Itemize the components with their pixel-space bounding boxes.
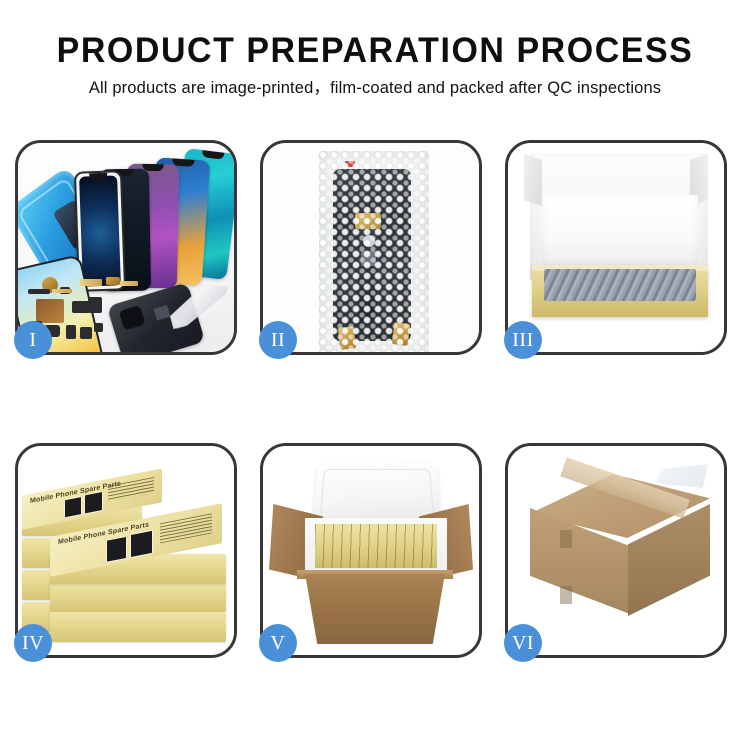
step-6-photo [508, 446, 724, 655]
grey-foam-insert [544, 269, 696, 301]
lid-flap-left [524, 154, 542, 206]
page-header: PRODUCT PREPARATION PROCESS All products… [0, 0, 750, 99]
step-2-photo [263, 143, 479, 352]
bubble-wrap-bag [319, 151, 429, 352]
step-badge-4: IV [14, 624, 52, 662]
step-card-6-frame [505, 443, 727, 658]
page-subtitle: All products are image-printed，film-coat… [0, 78, 750, 99]
process-step-grid: I II [9, 136, 741, 662]
step-badge-5: V [259, 624, 297, 662]
carton-body [299, 574, 451, 644]
white-foam-sheet [542, 195, 698, 269]
phone-fan-group [74, 151, 234, 291]
box-stack: Mobile Phone Spare Parts Mobile Phone Sp… [22, 464, 234, 655]
step-card-5[interactable]: V [254, 439, 488, 662]
step-4-photo: Mobile Phone Spare Parts Mobile Phone Sp… [18, 446, 234, 655]
step-card-1[interactable]: I [9, 136, 243, 359]
step-5-photo [263, 446, 479, 655]
step-badge-3: III [504, 321, 542, 359]
carton-handle-tab-lower [560, 586, 572, 604]
step-card-3-frame [505, 140, 727, 355]
carton-handle-tab-upper [560, 530, 572, 548]
step-card-4[interactable]: Mobile Phone Spare Parts Mobile Phone Sp… [9, 439, 243, 662]
step-card-6[interactable]: VI [499, 439, 733, 662]
step-1-photo [18, 143, 234, 352]
step-badge-1: I [14, 321, 52, 359]
yellow-box-tray [532, 265, 708, 317]
step-card-2[interactable]: II [254, 136, 488, 359]
page-title: PRODUCT PREPARATION PROCESS [11, 31, 739, 71]
step-card-5-frame [260, 443, 482, 658]
step-badge-6: VI [504, 624, 542, 662]
step-badge-2: II [259, 321, 297, 359]
bubble-highlight-texture [319, 151, 429, 352]
step-card-3[interactable]: III [499, 136, 733, 359]
step-card-4-frame: Mobile Phone Spare Parts Mobile Phone Sp… [15, 443, 237, 658]
step-card-1-frame [15, 140, 237, 355]
yellow-boxes-inside [315, 524, 437, 568]
step-card-2-frame [260, 140, 482, 355]
spare-parts-scatter [28, 275, 234, 352]
step-3-photo [508, 143, 724, 352]
